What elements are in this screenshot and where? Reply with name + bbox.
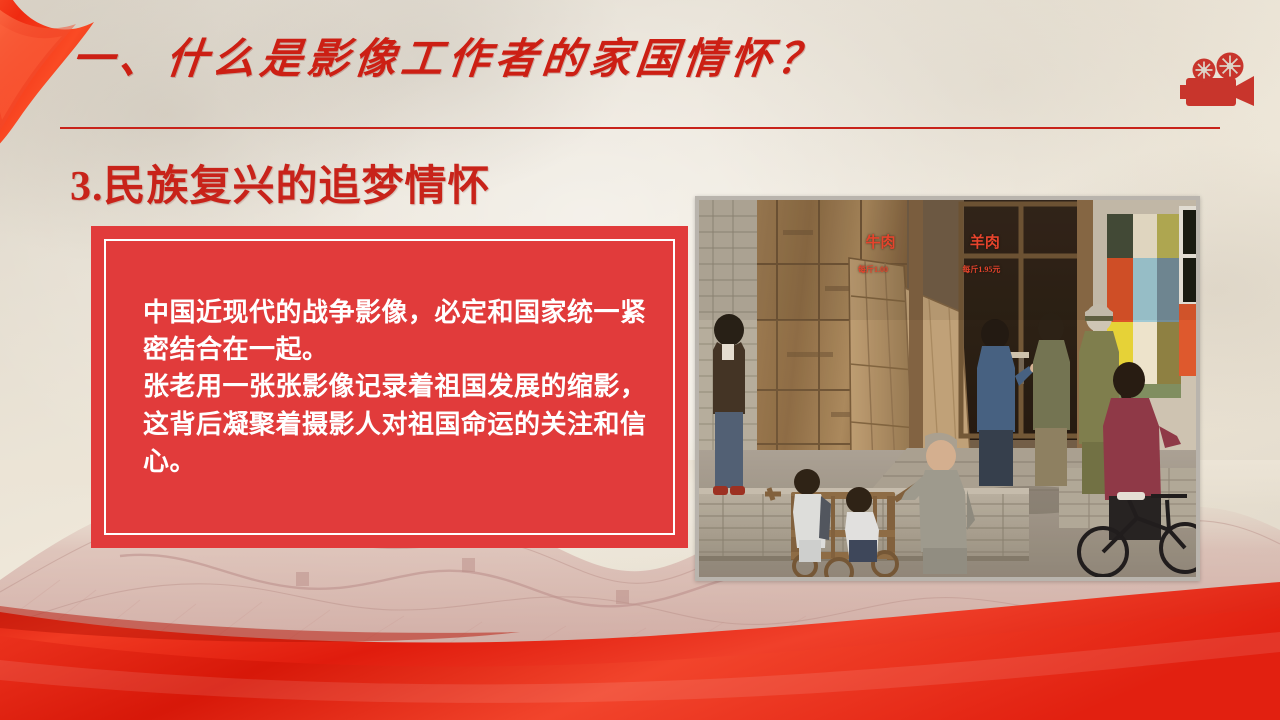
section-subheading: 3.民族复兴的追梦情怀 [70, 152, 491, 213]
presentation-slide: 一、什么是影像工作者的家国情怀？ 3.民族复兴的追梦情怀 中国 [0, 0, 1280, 720]
highlight-text-card: 中国近现代的战争影像，必定和国家统一紧密结合在一起。 张老用一张张影像记录着祖国… [91, 226, 688, 548]
card-body-text: 中国近现代的战争影像，必定和国家统一紧密结合在一起。 张老用一张张影像记录着祖国… [143, 294, 658, 480]
street-scene-photo: 牛肉 每斤1.00 羊肉 每斤1.95元 [699, 200, 1196, 577]
page-title: 一、什么是影像工作者的家国情怀？ [70, 38, 827, 82]
photo-frame: 牛肉 每斤1.00 羊肉 每斤1.95元 [695, 196, 1200, 581]
movie-camera-icon [1180, 52, 1262, 114]
red-flag-ribbon [0, 0, 120, 171]
title-divider [60, 127, 1220, 129]
